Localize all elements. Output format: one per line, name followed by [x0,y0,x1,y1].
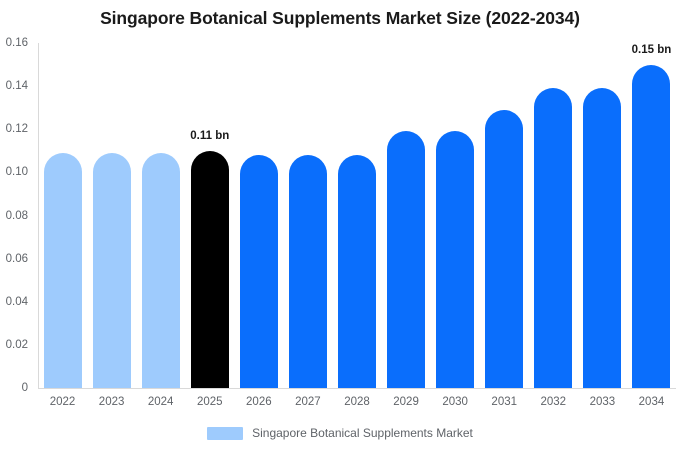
y-axis-tick-label: 0.08 [0,210,28,222]
x-axis-tick-label-2024: 2024 [136,396,185,408]
bar-slot [44,43,82,388]
bar-2030[interactable] [436,131,474,388]
legend-label: Singapore Botanical Supplements Market [252,426,473,440]
bar-2028[interactable] [338,155,376,388]
y-axis-tick-label: 0.06 [0,253,28,265]
bar-slot [240,43,278,388]
chart-title: Singapore Botanical Supplements Market S… [0,8,680,29]
y-axis-line [38,43,39,388]
bar-2027[interactable] [289,155,327,388]
bar-chart: Singapore Botanical Supplements Market S… [0,0,680,450]
bar-2026[interactable] [240,155,278,388]
bar-slot [338,43,376,388]
y-axis-tick-label: 0.10 [0,166,28,178]
bar-2022[interactable] [44,153,82,388]
bar-2031[interactable] [485,110,523,388]
y-axis-tick-label: 0 [0,382,28,394]
bar-slot [485,43,523,388]
bar-slot: 0.11 bn [191,43,229,388]
bar-value-label-2025: 0.11 bn [169,130,251,142]
x-axis-tick-label-2031: 2031 [480,396,529,408]
x-axis-tick-label-2023: 2023 [87,396,136,408]
y-axis-tick-label: 0.14 [0,80,28,92]
bar-slot [436,43,474,388]
x-axis-tick-label-2026: 2026 [234,396,283,408]
x-axis-tick-label-2029: 2029 [382,396,431,408]
y-axis-tick-label: 0.04 [0,296,28,308]
bar-slot [534,43,572,388]
bar-2023[interactable] [93,153,131,388]
x-axis-tick-label-2033: 2033 [578,396,627,408]
bar-2024[interactable] [142,153,180,388]
legend-item[interactable]: Singapore Botanical Supplements Market [207,426,473,440]
bar-value-label-2034: 0.15 bn [610,44,680,56]
x-axis-tick-label-2030: 2030 [431,396,480,408]
x-axis-tick-label-2027: 2027 [283,396,332,408]
bar-slot [289,43,327,388]
bar-slot [387,43,425,388]
bar-slot [142,43,180,388]
bar-2033[interactable] [583,88,621,388]
x-axis-tick-label-2025: 2025 [185,396,234,408]
bar-2032[interactable] [534,88,572,388]
bar-slot [93,43,131,388]
x-axis-line [38,388,676,389]
x-axis-tick-label-2028: 2028 [332,396,381,408]
x-axis-tick-label-2032: 2032 [529,396,578,408]
x-axis-tick-label-2034: 2034 [627,396,676,408]
bar-slot [583,43,621,388]
legend-swatch-icon [207,427,243,440]
bar-slot: 0.15 bn [632,43,670,388]
bar-2034[interactable] [632,65,670,388]
x-axis-tick-label-2022: 2022 [38,396,87,408]
bar-2029[interactable] [387,131,425,388]
y-axis-tick-label: 0.16 [0,37,28,49]
chart-legend: Singapore Botanical Supplements Market [0,426,680,440]
y-axis-tick-label: 0.12 [0,123,28,135]
bar-2025[interactable] [191,151,229,388]
y-axis-tick-label: 0.02 [0,339,28,351]
plot-area: 0.11 bn0.15 bn [38,43,676,388]
